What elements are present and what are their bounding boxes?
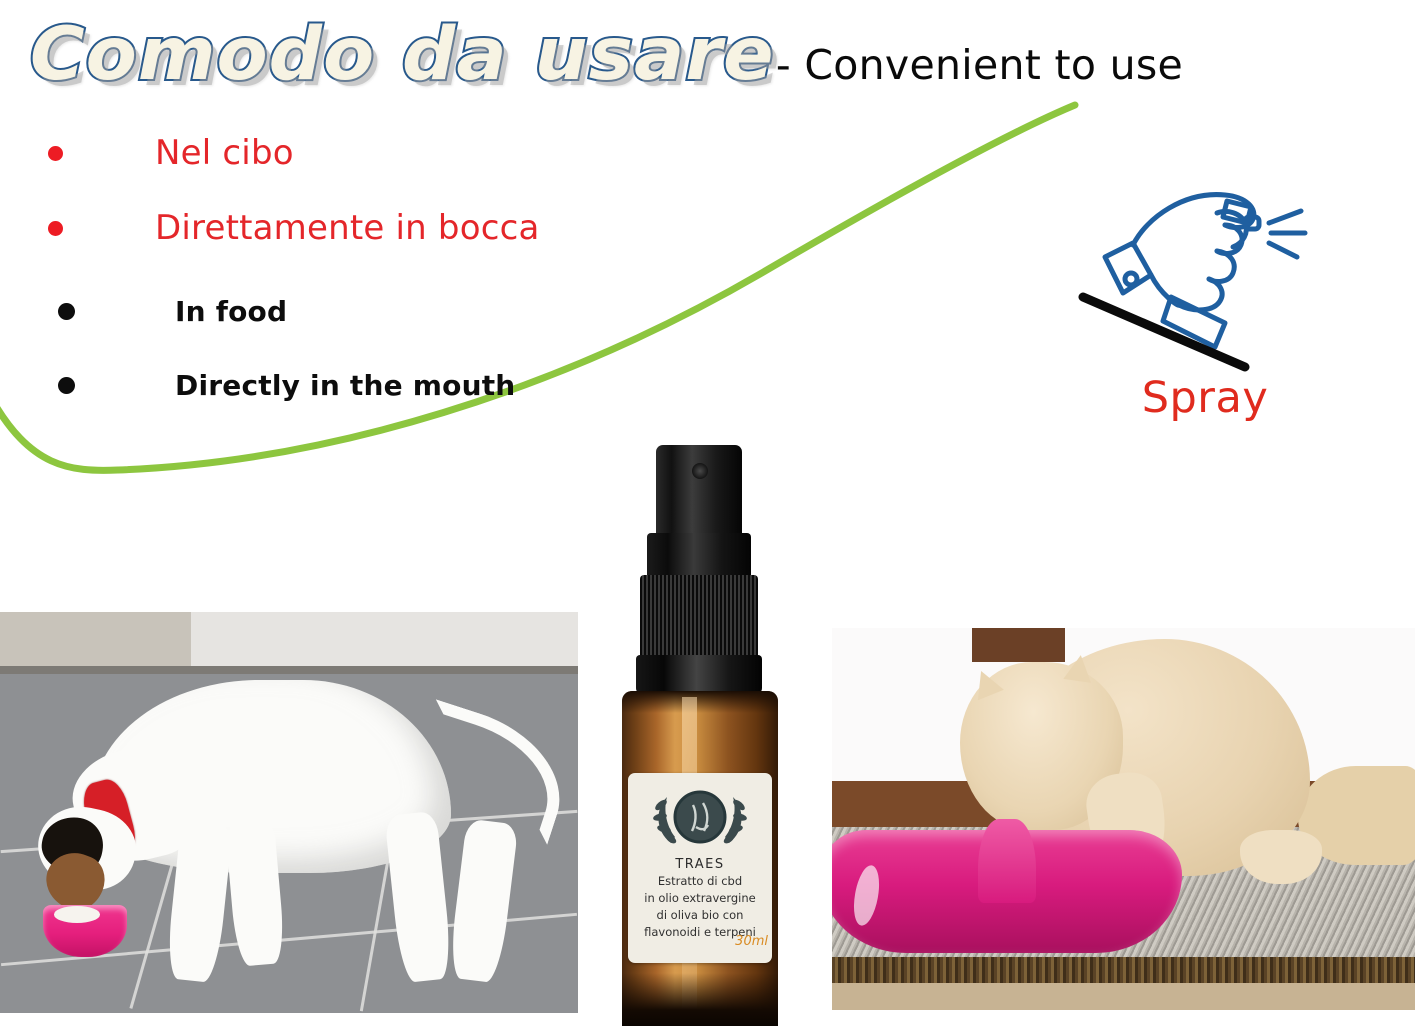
bottle-glass-shading-top [622, 691, 778, 713]
list-item: In food [48, 272, 688, 350]
dog-bowl-food [54, 906, 100, 923]
bullet-dot-icon [58, 377, 75, 394]
laurel-wreath-coin-emblem [641, 781, 759, 861]
title-wordart: Comodo da usare [30, 18, 774, 91]
cat-bowl-divider [978, 819, 1036, 903]
spray-illustration-block: Spray [1075, 165, 1365, 435]
label-volume: 30ml [735, 934, 768, 949]
bullet-dot-icon [58, 303, 75, 320]
list-item-label: Nel cibo [155, 133, 294, 173]
list-item: Nel cibo [48, 122, 688, 184]
spray-caption-label: Spray [1075, 373, 1335, 423]
dog-photo-wall-right [191, 612, 578, 672]
slide-canvas: Comodo da usare - Convenient to use Nel … [0, 0, 1415, 1026]
page-title: Comodo da usare - Convenient to use [30, 18, 1183, 91]
title-translation: - Convenient to use [776, 41, 1183, 89]
list-item-label: Direttamente in bocca [155, 208, 540, 248]
bullet-dot-icon [48, 146, 63, 161]
list-item-label: In food [175, 295, 287, 328]
bullet-dot-icon [48, 221, 63, 236]
label-line: di oliva bio con [628, 907, 772, 924]
cbd-oil-spray-bottle-photo: TRAES Estratto di cbd in olio extravergi… [608, 445, 790, 1026]
label-line: Estratto di cbd [628, 873, 772, 890]
usage-bullet-list: Nel cibo Direttamente in bocca In food D… [48, 122, 688, 420]
hand-spray-bottle-icon [1075, 165, 1335, 380]
label-description: Estratto di cbd in olio extravergine di … [628, 873, 772, 941]
list-item: Directly in the mouth [48, 350, 688, 420]
spray-burst-lines [1269, 211, 1305, 257]
bottle-pump-shoulder [647, 533, 751, 581]
bottle-glass-shading-bottom [622, 973, 778, 1026]
cat-ear [1064, 653, 1095, 683]
bottle-nozzle-orifice [692, 463, 708, 479]
bottle-cap-ring [636, 655, 762, 695]
bottle-ribbed-collar [640, 575, 758, 659]
list-item: Direttamente in bocca [48, 184, 688, 272]
bottle-label: TRAES Estratto di cbd in olio extravergi… [628, 773, 772, 963]
cat-photo-dark-panel [972, 628, 1065, 662]
label-brand-name: TRAES [628, 857, 772, 872]
label-line: in olio extravergine [628, 890, 772, 907]
list-item-label: Directly in the mouth [175, 369, 515, 402]
dog-eating-from-bowl-photo [0, 612, 578, 1013]
bottle-nozzle [656, 445, 742, 537]
cat-photo-floor [832, 983, 1415, 1010]
cat-eating-from-bowl-photo [832, 628, 1415, 1010]
